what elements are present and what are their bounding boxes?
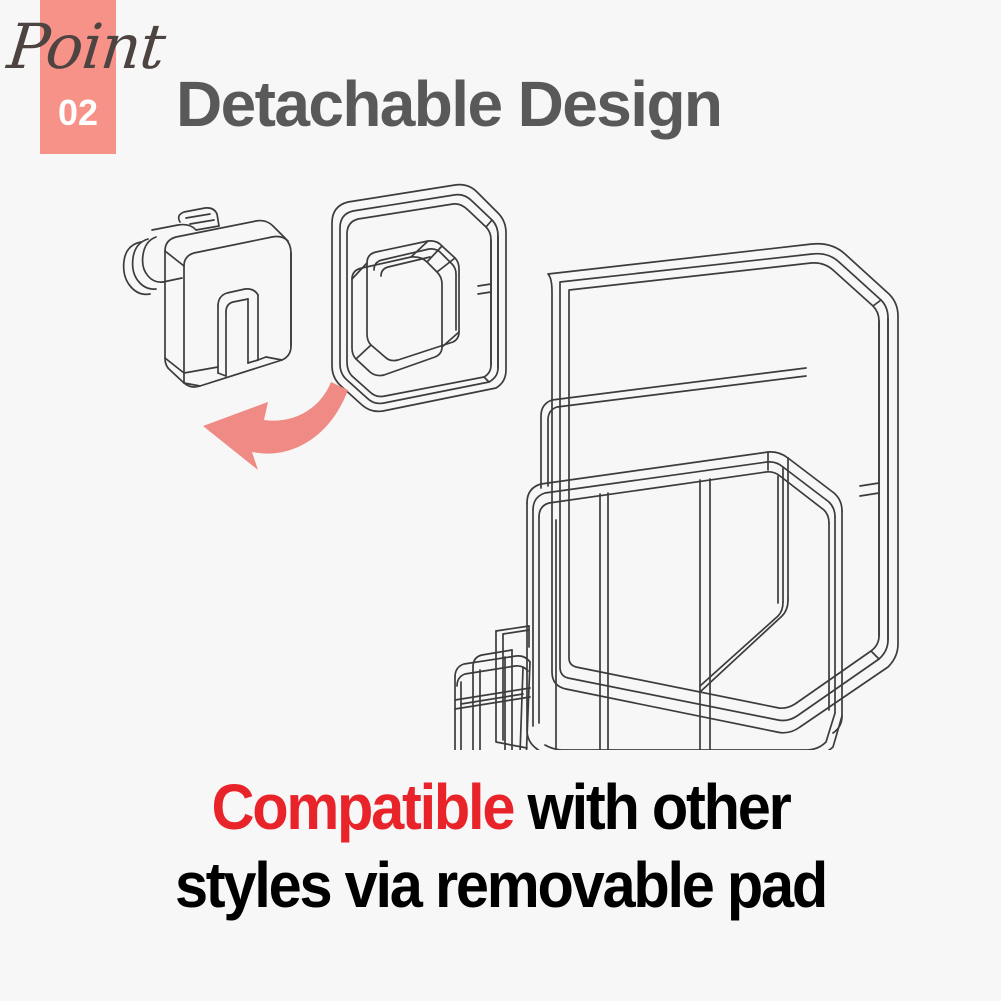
page-title: Detachable Design [176, 72, 721, 136]
caption-block: Compatible with other styles via removab… [0, 768, 1001, 938]
main-holder-basket [527, 368, 842, 750]
side-cup-holder [455, 626, 560, 750]
direction-arrow-icon [203, 382, 348, 470]
point-script-label: Point [5, 16, 192, 78]
header: Point 02 Detachable Design [0, 0, 1001, 175]
detachable-clip [124, 208, 291, 387]
caption-line-1-rest: with other [513, 771, 789, 843]
caption-line-2: styles via removable pad [35, 846, 966, 924]
product-diagram-svg [0, 170, 1001, 750]
caption-highlight-word: Compatible [211, 771, 513, 843]
point-number-label: 02 [40, 95, 116, 131]
adhesive-pad [332, 185, 506, 412]
caption-line-1: Compatible with other [35, 768, 966, 846]
product-illustration [0, 170, 1001, 750]
